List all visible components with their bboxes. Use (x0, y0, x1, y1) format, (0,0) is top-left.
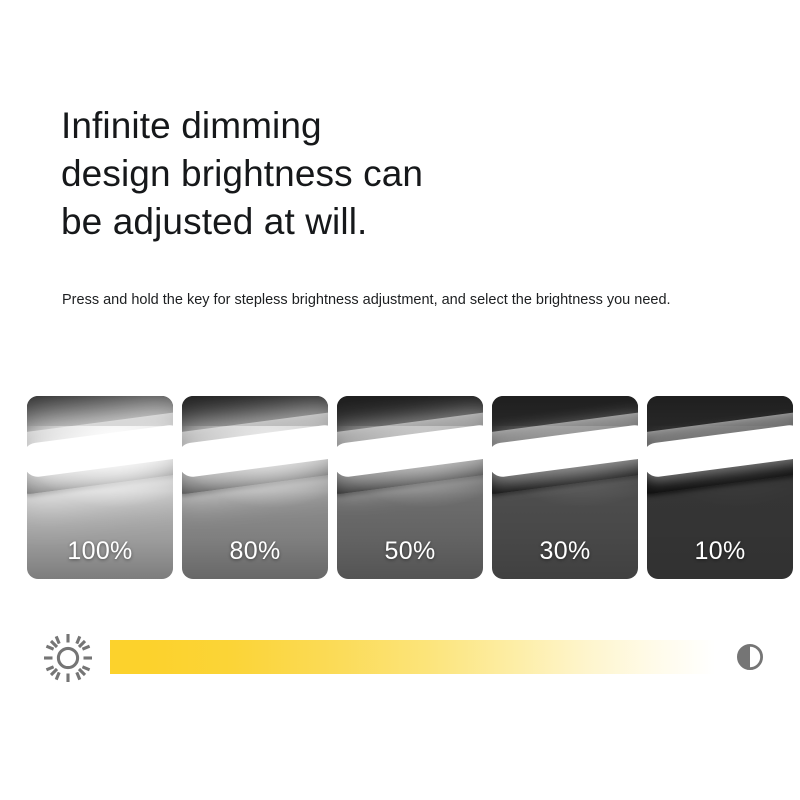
brightness-slider-row (27, 628, 775, 690)
brightness-level-label: 100% (27, 537, 173, 566)
brightness-card: 50% (337, 396, 483, 579)
brightness-level-label: 50% (337, 537, 483, 566)
sun-brightness-icon (40, 630, 96, 686)
page-subtitle: Press and hold the key for stepless brig… (62, 289, 774, 312)
led-panel (647, 424, 793, 479)
brightness-level-label: 30% (492, 537, 638, 566)
page-title: Infinite dimming design brightness can b… (61, 102, 701, 246)
brightness-card: 10% (647, 396, 793, 579)
led-panel (182, 424, 328, 479)
brightness-card: 80% (182, 396, 328, 579)
brightness-card: 30% (492, 396, 638, 579)
brightness-level-label: 80% (182, 537, 328, 566)
brightness-level-label: 10% (647, 537, 793, 566)
brightness-card: 100% (27, 396, 173, 579)
brightness-gradient-slider[interactable] (110, 640, 715, 674)
contrast-half-circle-icon (729, 636, 771, 678)
led-panel (27, 424, 173, 479)
led-panel (492, 424, 638, 479)
led-panel (337, 424, 483, 479)
product-feature-page: Infinite dimming design brightness can b… (0, 0, 800, 800)
brightness-card-row: 100%80%50%30%10% (27, 396, 775, 579)
